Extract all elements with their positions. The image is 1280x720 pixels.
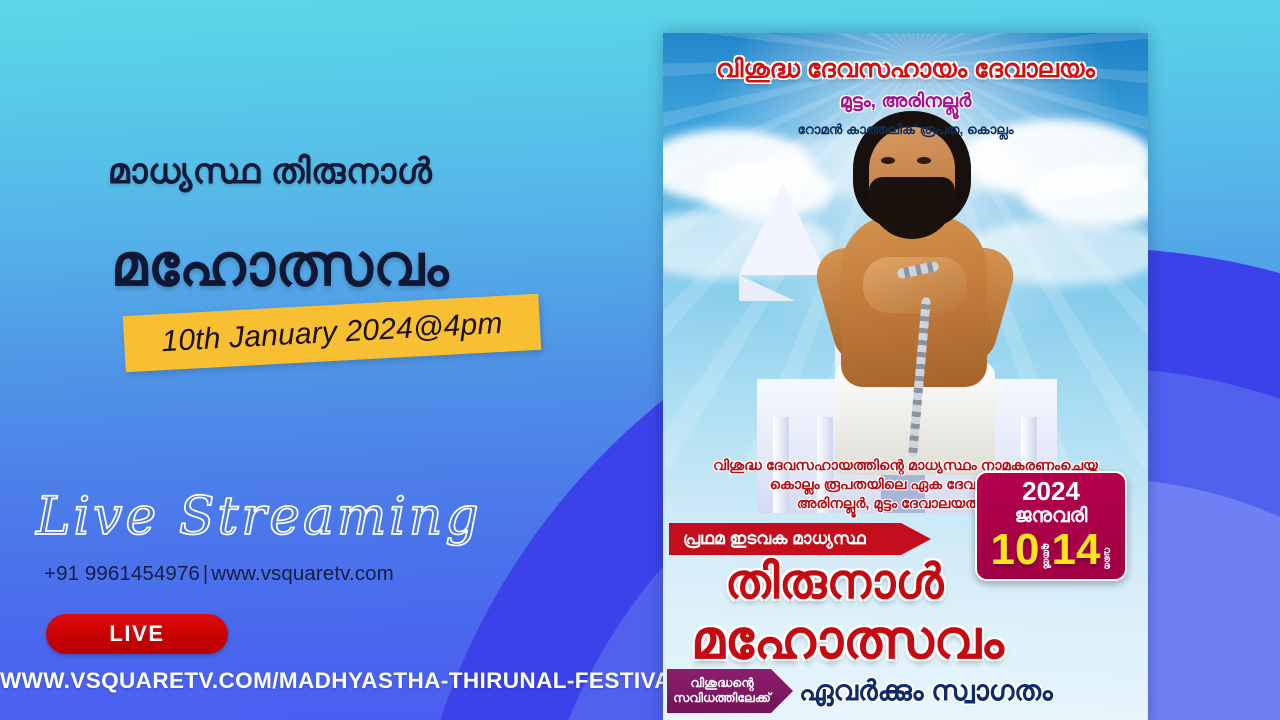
badge-day-to-suffix: വരെ [1101,547,1111,572]
badge-day-range: 10 മുതൽ 14 വരെ [991,528,1112,572]
poster-headline-primary: തിരുനാൾ [725,555,944,611]
poster-headline-secondary: മഹോത്സവം [691,609,1004,672]
badge-day-to: 14 [1052,528,1101,572]
badge-year: 2024 [1022,477,1080,505]
live-button-label: LIVE [109,621,164,647]
website-url[interactable]: www.vsquaretv.com [211,562,393,585]
live-streaming-wordmark: Live Streaming [30,478,500,556]
poster-savidham-banner: വിശുദ്ധന്റെ സവിധത്തിലേക്ക് [667,669,793,713]
date-banner: 10th January 2024@4pm [123,294,541,372]
contact-separator: | [200,562,211,585]
event-poster: വിശുദ്ധ ദേവസഹായം ദേവാലയം മുട്ടം, അരിനല്ല… [663,33,1148,720]
poster-header: വിശുദ്ധ ദേവസഹായം ദേവാലയം മുട്ടം, അരിനല്ല… [663,55,1148,138]
savidham-line-2: സവിധത്തിലേക്ക് [673,691,771,706]
badge-month: ജനുവരി [1015,505,1088,527]
promo-subtitle: മാധ്യസ്ഥ തിരുനാൾ [0,152,540,192]
date-banner-label: 10th January 2024@4pm [123,294,541,372]
promo-panel: മാധ്യസ്ഥ തിരുനാൾ മഹോത്സവം 10th January 2… [0,0,660,720]
promo-title: മഹോത്സവം [0,232,560,300]
live-streaming-script-text: Live Streaming [35,487,482,547]
poster-church-name: വിശുദ്ധ ദേവസഹായം ദേവാലയം [663,55,1148,84]
live-button[interactable]: LIVE [46,614,228,654]
savidham-line-1: വിശുദ്ധന്റെ [690,676,753,691]
poster-diocese: റോമൻ കാത്തലിക് രൂപത, കൊല്ലം [663,122,1148,138]
saint-eye [881,157,895,164]
phone-number: +91 9961454976 [44,562,200,585]
poster-date-badge: 2024 ജനുവരി 10 മുതൽ 14 വരെ [975,471,1127,581]
poster-ribbon-label: പ്രഥമ ഇടവക മാധ്യസ്ഥ [683,529,866,549]
saint-figure-illustration [811,111,1021,471]
badge-day-from: 10 [991,528,1040,572]
badge-day-from-suffix: മുതൽ [1041,543,1051,572]
poster-welcome-row: വിശുദ്ധന്റെ സവിധത്തിലേക്ക് ഏവർക്കും സ്വാ… [667,669,1053,713]
contact-line: +91 9961454976|www.vsquaretv.com [44,562,394,586]
church-roof [739,275,795,301]
poster-ribbon-banner: പ്രഥമ ഇടവക മാധ്യസ്ഥ [669,523,931,555]
poster-welcome-text: ഏവർക്കും സ്വാഗതം [799,675,1053,708]
bottom-stream-url[interactable]: WWW.VSQUARETV.COM/MADHYASTHA-THIRUNAL-FE… [0,668,644,694]
saint-eye [917,157,931,164]
poster-place: മുട്ടം, അരിനല്ലൂർ [663,91,1148,113]
